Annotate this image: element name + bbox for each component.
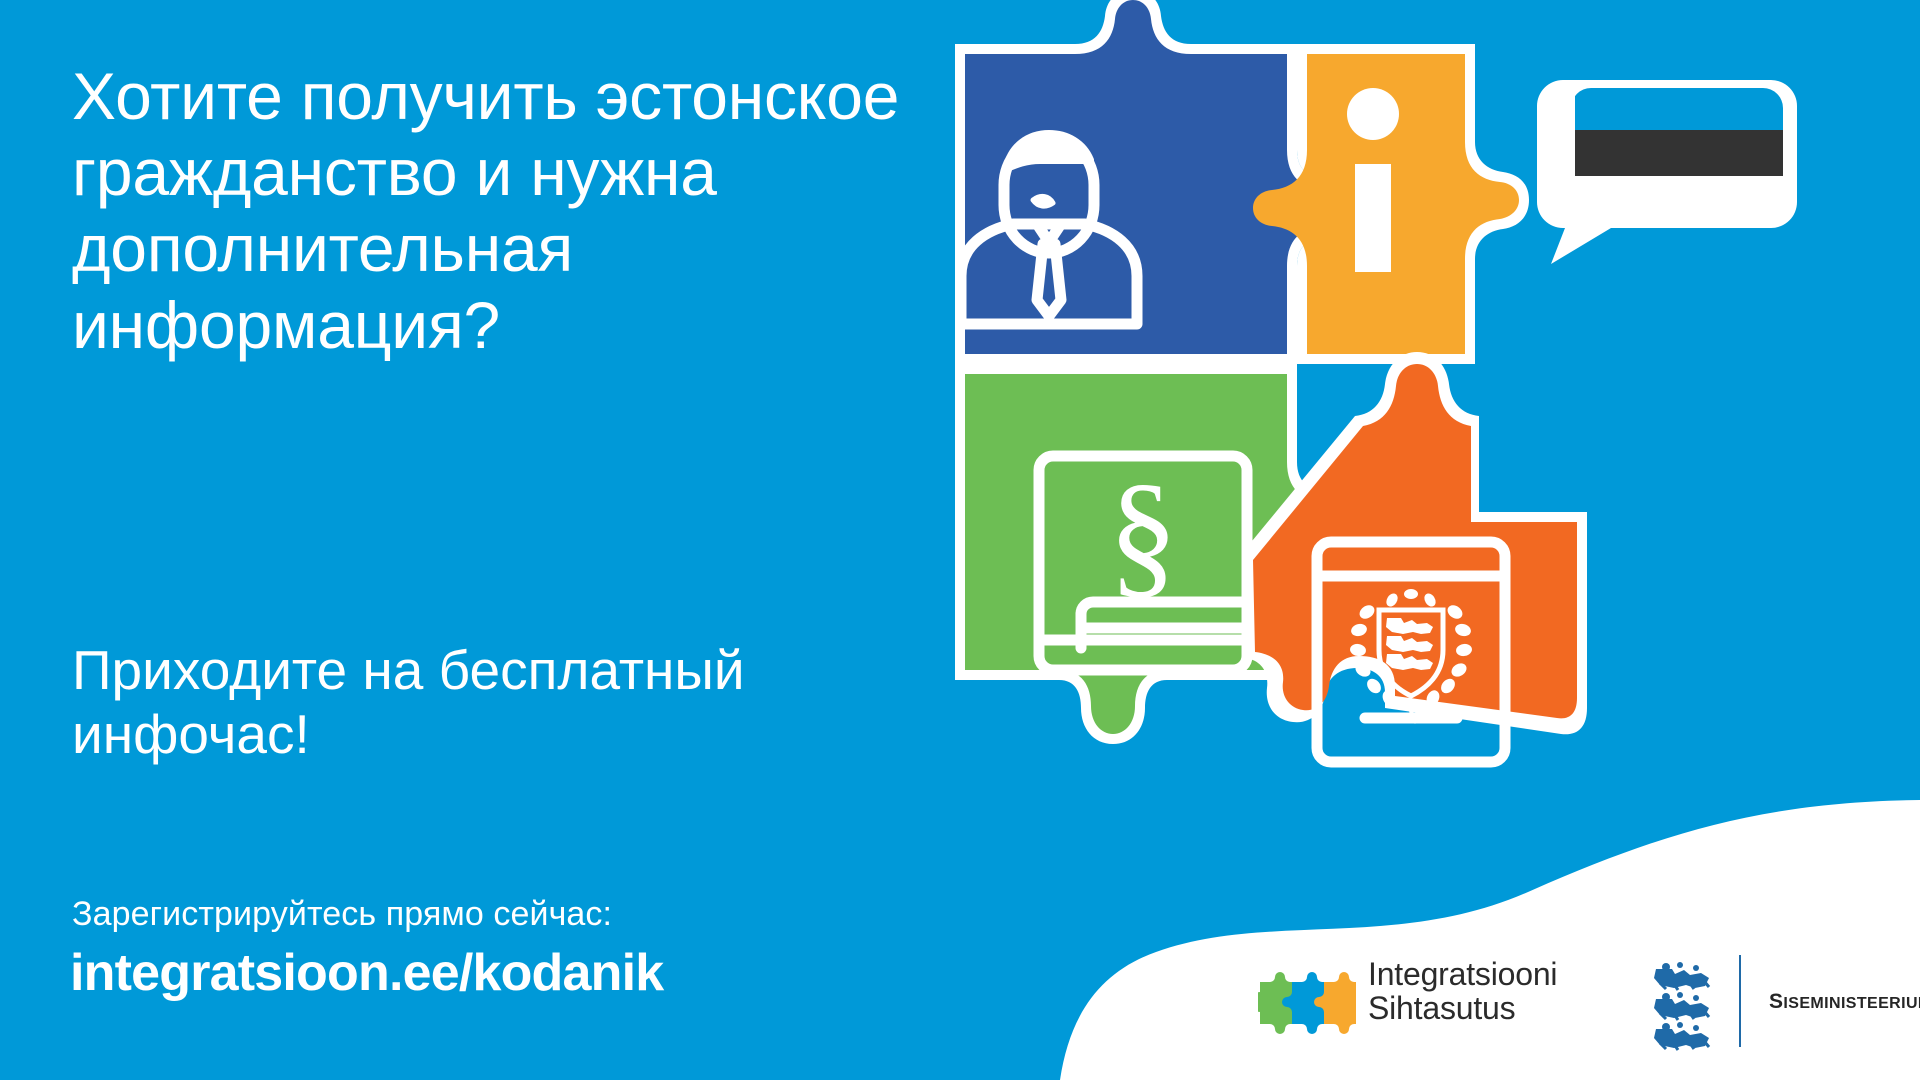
puzzle-illustration: §	[955, 0, 1920, 872]
register-url-link[interactable]: integratsioon.ee/kodanik	[70, 943, 663, 1003]
paragraph-symbol: §	[1108, 456, 1178, 611]
logo-line-2: Sihtasutus	[1368, 992, 1557, 1026]
logo-puzzle-icon	[1258, 970, 1358, 1036]
estonian-flag-speech-bubble-icon	[1537, 80, 1797, 264]
integratsiooni-sihtasutus-logo[interactable]: Integratsiooni Sihtasutus	[1258, 962, 1578, 1048]
ministry-name-rest: ISEMINISTEERIUM	[1783, 995, 1920, 1012]
headline: Хотите получить эстонское гражданство и …	[72, 58, 952, 363]
ministry-name: SISEMINISTEERIUM	[1769, 990, 1920, 1014]
register-label: Зарегистрируйтесь прямо сейчас:	[72, 895, 612, 934]
subheadline: Приходите на бесплатный инфочас!	[72, 638, 852, 767]
three-lions-crest-icon	[1652, 959, 1726, 1051]
siseministeerium-logo[interactable]: SISEMINISTEERIUM	[1652, 955, 1920, 1055]
logo-line-1: Integratsiooni	[1368, 958, 1557, 992]
poster-canvas: §	[0, 0, 1920, 1080]
logo-divider	[1739, 955, 1741, 1047]
ministry-name-initial: S	[1769, 990, 1783, 1013]
